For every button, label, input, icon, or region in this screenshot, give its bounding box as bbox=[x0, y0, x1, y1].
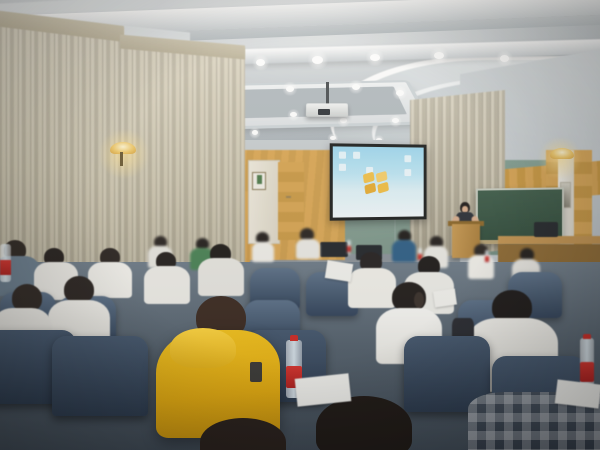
downlight-icon bbox=[286, 86, 294, 92]
projector-mount-pole bbox=[326, 82, 329, 104]
paper-handout bbox=[325, 260, 353, 282]
foreground-head bbox=[316, 396, 412, 450]
wall-sconce-left bbox=[110, 142, 136, 154]
downlight-icon bbox=[396, 90, 404, 96]
audience-body bbox=[88, 262, 132, 298]
audience-body bbox=[348, 268, 396, 308]
audience-body bbox=[392, 240, 416, 262]
downlight-icon bbox=[290, 112, 297, 117]
paper-handout bbox=[433, 289, 457, 308]
projection-screen bbox=[330, 143, 427, 220]
water-bottle bbox=[347, 240, 351, 254]
sconce-arm bbox=[120, 152, 123, 166]
audience-body bbox=[252, 242, 274, 262]
desktop-icon bbox=[339, 164, 346, 171]
downlight-icon bbox=[340, 118, 347, 123]
windows-logo-icon bbox=[363, 171, 391, 196]
back-desk-front bbox=[498, 244, 600, 264]
wall-sconce-right bbox=[550, 148, 574, 159]
back-desk-top bbox=[498, 236, 600, 244]
downlight-icon bbox=[370, 54, 380, 61]
desktop-icon bbox=[339, 152, 346, 159]
downlight-icon bbox=[500, 55, 509, 62]
desktop-icon bbox=[404, 155, 411, 162]
desktop-icon bbox=[353, 152, 360, 159]
hoodie-sleeve-patch bbox=[250, 362, 262, 382]
auditorium-seat bbox=[52, 336, 148, 416]
audience-body bbox=[468, 255, 494, 279]
audience-head bbox=[64, 276, 94, 303]
downlight-icon bbox=[312, 56, 323, 64]
audience-body bbox=[296, 239, 320, 259]
door-handle-icon[interactable] bbox=[286, 196, 291, 198]
audience-body bbox=[198, 258, 244, 296]
photo-scene: Conference hall lecture - audience seate… bbox=[0, 0, 600, 450]
downlight-icon bbox=[392, 118, 399, 123]
water-bottle bbox=[485, 250, 489, 264]
projector-lens-icon bbox=[318, 109, 330, 115]
paper-handout bbox=[295, 373, 352, 406]
desk-monitor bbox=[320, 242, 348, 257]
sconce-glow bbox=[96, 130, 152, 178]
downlight-icon bbox=[256, 59, 265, 66]
screen-content bbox=[333, 146, 424, 217]
audience-body bbox=[144, 266, 190, 304]
framed-picture bbox=[252, 172, 266, 190]
water-bottle bbox=[0, 244, 11, 282]
downlight-icon bbox=[252, 130, 258, 135]
side-door-panel[interactable] bbox=[278, 162, 304, 240]
downlight-icon bbox=[434, 52, 444, 59]
downlight-icon bbox=[352, 84, 360, 90]
audience-hair-bun bbox=[414, 292, 424, 308]
desktop-icon bbox=[404, 169, 411, 176]
hoodie-hood bbox=[170, 328, 236, 368]
desk-monitor bbox=[534, 222, 558, 237]
